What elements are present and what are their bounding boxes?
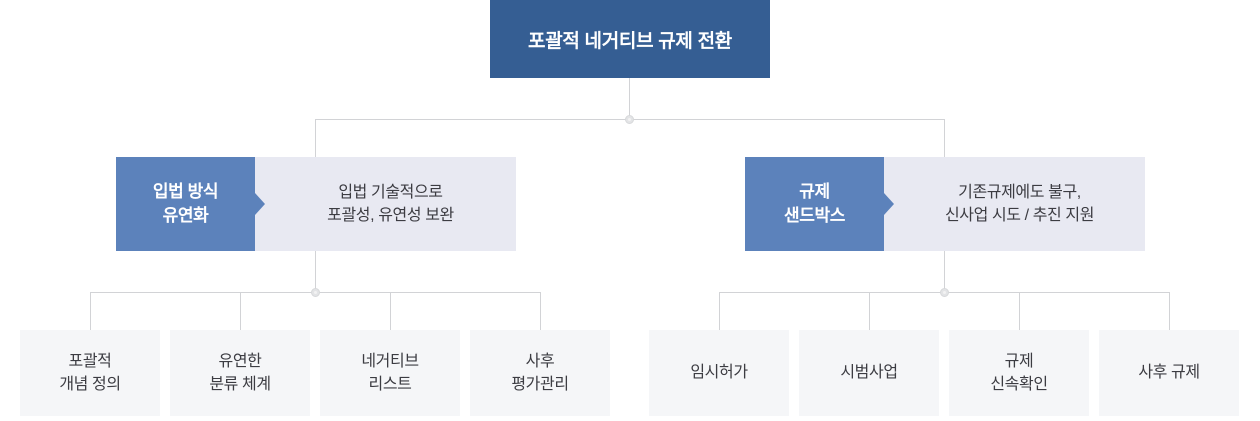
branch-0-desc-line1: 입법 기술적으로 [327, 181, 454, 204]
connector-branch-0-leaf-1 [240, 292, 241, 330]
connector-branch-0-stem [315, 251, 316, 293]
leaf-0-1-line1: 유연한 [209, 350, 270, 373]
leaf-node-0-3[interactable]: 사후 평가관리 [470, 330, 610, 416]
leaf-node-1-0[interactable]: 임시허가 [649, 330, 789, 416]
branch-0-tag[interactable]: 입법 방식 유연화 [116, 157, 255, 251]
connector-branch-1-leaf-0 [719, 292, 720, 330]
branch-node-1[interactable]: 규제 샌드박스 기존규제에도 불구, 신사업 시도 / 추진 지원 [745, 157, 1145, 251]
connector-branch-0-leaf-0 [90, 292, 91, 330]
branch-1-tag[interactable]: 규제 샌드박스 [745, 157, 884, 251]
leaf-node-1-3[interactable]: 사후 규제 [1099, 330, 1239, 416]
connector-branch-0-leaf-2 [390, 292, 391, 330]
branch-1-desc-line1: 기존규제에도 불구, [945, 181, 1094, 204]
branch-0-tag-line2: 유연화 [153, 204, 218, 228]
branch-0-tag-line1: 입법 방식 [153, 180, 218, 204]
branch-1-tag-line1: 규제 [784, 180, 845, 204]
leaf-0-2-line1: 네거티브 [361, 350, 418, 373]
connector-branch-1-leaf-3 [1169, 292, 1170, 330]
branch-0-description: 입법 기술적으로 포괄성, 유연성 보완 [255, 157, 516, 251]
connector-branch-1-stem [944, 251, 945, 293]
leaf-0-3-line1: 사후 [511, 350, 568, 373]
leaf-0-2-line2: 리스트 [361, 373, 418, 396]
connector-level2-bus [315, 119, 945, 120]
connector-branch-1-leaf-1 [869, 292, 870, 330]
junction-dot-branch-1 [940, 288, 949, 297]
leaf-node-0-2[interactable]: 네거티브 리스트 [320, 330, 460, 416]
leaf-1-3-line1: 사후 규제 [1138, 361, 1199, 384]
connector-branch-0-bus [90, 292, 540, 293]
junction-dot-branch-0 [311, 288, 320, 297]
leaf-node-1-1[interactable]: 시범사업 [799, 330, 939, 416]
branch-1-description: 기존규제에도 불구, 신사업 시도 / 추진 지원 [884, 157, 1145, 251]
connector-drop-branch-1 [944, 119, 945, 157]
branch-1-desc-line2: 신사업 시도 / 추진 지원 [945, 204, 1094, 227]
connector-drop-branch-0 [315, 119, 316, 157]
branch-1-tag-line2: 샌드박스 [784, 204, 845, 228]
leaf-0-0-line1: 포괄적 [59, 350, 120, 373]
junction-dot-root [625, 115, 634, 124]
leaf-node-1-2[interactable]: 규제 신속확인 [949, 330, 1089, 416]
leaf-node-0-0[interactable]: 포괄적 개념 정의 [20, 330, 160, 416]
leaf-1-2-line2: 신속확인 [990, 373, 1047, 396]
leaf-0-1-line2: 분류 체계 [209, 373, 270, 396]
leaf-0-3-line2: 평가관리 [511, 373, 568, 396]
connector-branch-1-leaf-2 [1019, 292, 1020, 330]
branch-node-0[interactable]: 입법 방식 유연화 입법 기술적으로 포괄성, 유연성 보완 [116, 157, 516, 251]
leaf-0-0-line2: 개념 정의 [59, 373, 120, 396]
connector-branch-0-leaf-3 [540, 292, 541, 330]
org-diagram: 포괄적 네거티브 규제 전환 입법 방식 유연화 입법 기술적으로 포괄성, 유… [0, 0, 1260, 421]
connector-root-stem [629, 78, 630, 120]
root-node-label: 포괄적 네거티브 규제 전환 [528, 26, 732, 53]
branch-0-desc-line2: 포괄성, 유연성 보완 [327, 204, 454, 227]
leaf-1-0-line1: 임시허가 [690, 361, 747, 384]
leaf-1-1-line1: 시범사업 [840, 361, 897, 384]
connector-branch-1-bus [719, 292, 1169, 293]
leaf-node-0-1[interactable]: 유연한 분류 체계 [170, 330, 310, 416]
root-node[interactable]: 포괄적 네거티브 규제 전환 [490, 0, 770, 78]
leaf-1-2-line1: 규제 [990, 350, 1047, 373]
